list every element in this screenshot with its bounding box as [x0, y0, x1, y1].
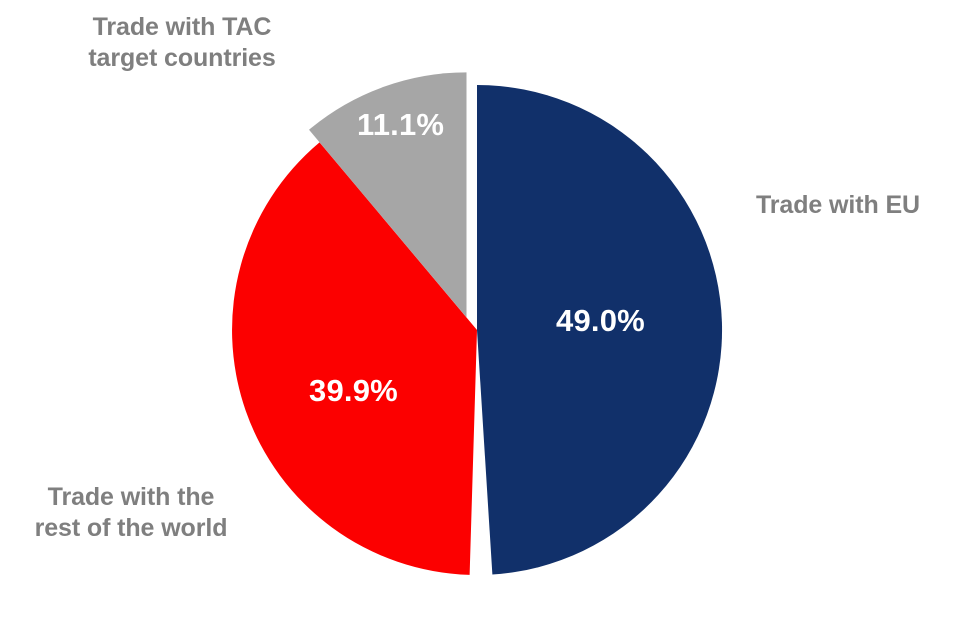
pie-label-trade-with-rest-of-world: Trade with the rest of the world — [16, 482, 246, 543]
pie-label-trade-with-eu: Trade with EU — [756, 190, 960, 221]
pie-value-trade-with-rest-of-world: 39.9% — [309, 373, 398, 409]
pie-chart-canvas — [0, 0, 960, 640]
pie-chart: Trade with TAC target countries Trade wi… — [0, 0, 960, 640]
pie-label-trade-with-tac-target-countries: Trade with TAC target countries — [57, 12, 307, 73]
pie-value-trade-with-eu: 49.0% — [556, 303, 645, 339]
pie-value-trade-with-tac-target-countries: 11.1% — [357, 107, 444, 143]
